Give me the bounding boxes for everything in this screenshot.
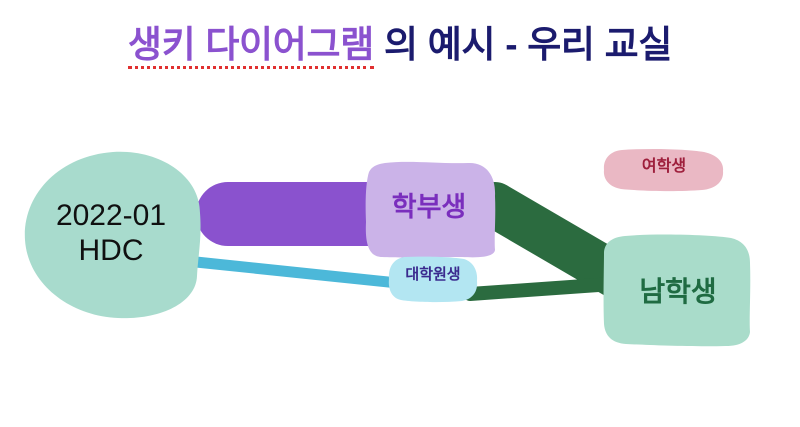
node-hdc[interactable] [25,152,201,318]
node-male[interactable] [604,235,751,347]
link-hdc-to-grad[interactable] [196,262,417,285]
sankey-nodes [25,149,750,346]
node-female[interactable] [604,149,723,191]
sankey-diagram: 2022-01 HDC 학부생 대학원생 여학생 남학생 [0,0,800,427]
sankey-canvas [0,0,800,427]
node-undergrad[interactable] [366,162,496,258]
sankey-slide: 생키 다이어그램 의 예시 - 우리 교실 [0,0,800,427]
node-grad[interactable] [389,257,477,302]
